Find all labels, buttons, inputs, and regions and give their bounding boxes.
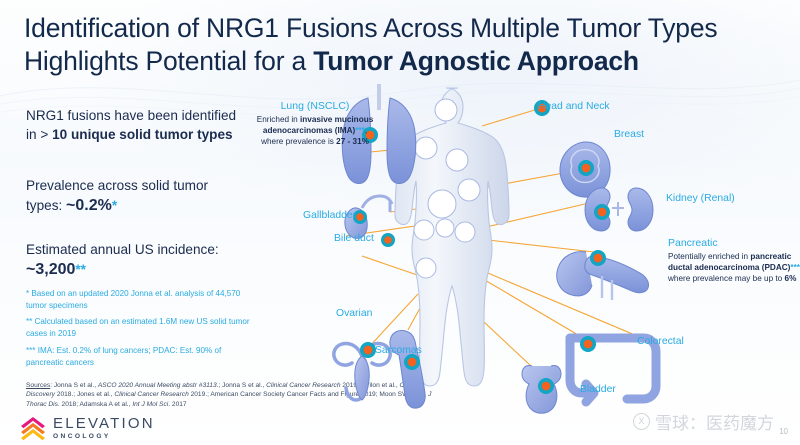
stat3-prefix: Estimated annual US incidence: bbox=[26, 242, 219, 257]
logo-sub-wordmark: ONCOLOGY bbox=[53, 434, 155, 441]
label-colorectal: Colorectal bbox=[637, 336, 684, 347]
panc-b3: *** bbox=[790, 263, 800, 272]
elevation-chevron-icon bbox=[20, 415, 46, 441]
callout-pancreatic: Pancreatic Potentially enriched in pancr… bbox=[668, 237, 800, 285]
sources-t9: . 2017 bbox=[168, 401, 186, 408]
footnote-1: * Based on an updated 2020 Jonna et al. … bbox=[26, 288, 252, 312]
footnote-2: ** Calculated based on an estimated 1.6M… bbox=[26, 316, 252, 340]
label-bladder: Bladder bbox=[580, 384, 616, 395]
anatomy-figure: Lung (NSCLC) Enriched in invasive mucino… bbox=[250, 80, 800, 410]
sources-t5: 2018.; Jones et al., bbox=[55, 391, 114, 398]
watermark-text: 雪球：医药魔方 bbox=[655, 409, 774, 434]
panc-b1: Potentially enriched in bbox=[668, 252, 750, 261]
lung-b1: Enriched in bbox=[257, 115, 300, 124]
label-bile-duct: Bile duct bbox=[334, 233, 374, 244]
slide-title: Identification of NRG1 Fusions Across Mu… bbox=[24, 12, 724, 78]
sources-i1: ASCO 2020 Annual Meeting abstr #3113 bbox=[98, 382, 217, 389]
lung-b5: 27 - 31% bbox=[336, 137, 369, 146]
sources-label: Sources bbox=[26, 382, 50, 389]
sources-i4: Clinical Cancer Research bbox=[114, 391, 188, 398]
elevation-oncology-logo: ELEVATION ONCOLOGY bbox=[20, 415, 155, 441]
watermark-logo-icon: X bbox=[633, 413, 650, 430]
label-breast: Breast bbox=[614, 129, 644, 140]
footnote-3: *** IMA: Est. 0.2% of lung cancers; PDAC… bbox=[26, 345, 252, 369]
callout-pancreatic-body: Potentially enriched in pancreatic ducta… bbox=[668, 252, 800, 285]
sources-i6: Int J Mol Sci bbox=[132, 401, 168, 408]
sources-t8: . 2018; Adamska A et al., bbox=[58, 401, 132, 408]
watermark: X 雪球：医药魔方 bbox=[633, 409, 774, 434]
title-bold: Tumor Agnostic Approach bbox=[313, 46, 639, 76]
panc-b4: where prevalence may be up to bbox=[668, 274, 785, 283]
sources-t1: : Jonna S et al., bbox=[50, 382, 98, 389]
stat2-footnote-marker: * bbox=[112, 198, 117, 213]
logo-wordmark: ELEVATION bbox=[53, 416, 155, 431]
label-gallbladder: Gallbladder bbox=[303, 210, 356, 221]
callout-lung-title: Lung (NSCLC) bbox=[252, 100, 378, 112]
panc-b5: 6% bbox=[785, 274, 797, 283]
stat-unique-tumor-types: NRG1 fusions have been identified in > 1… bbox=[26, 106, 241, 145]
stat3-footnote-marker: ** bbox=[75, 262, 86, 277]
footnotes-block: * Based on an updated 2020 Jonna et al. … bbox=[26, 288, 252, 373]
label-kidney: Kidney (Renal) bbox=[666, 193, 735, 204]
slide-canvas: Identification of NRG1 Fusions Across Mu… bbox=[0, 0, 800, 445]
stat2-value: ~0.2% bbox=[66, 197, 112, 214]
callout-lung: Lung (NSCLC) Enriched in invasive mucino… bbox=[252, 100, 378, 148]
stat-annual-incidence: Estimated annual US incidence: ~3,200** bbox=[26, 240, 241, 282]
label-head-and-neck: Head and Neck bbox=[538, 101, 610, 112]
stat3-value: ~3,200 bbox=[26, 261, 75, 278]
page-number: 10 bbox=[779, 427, 788, 436]
callout-lung-body: Enriched in invasive mucinous adenocarci… bbox=[252, 115, 378, 148]
stat-prevalence: Prevalence across solid tumor types: ~0.… bbox=[26, 176, 241, 218]
lung-b3: *** bbox=[355, 126, 365, 135]
stat1-value: 10 unique solid tumor types bbox=[52, 127, 233, 142]
label-sarcomas: Sarcomas bbox=[375, 345, 422, 356]
label-ovarian: Ovarian bbox=[336, 308, 372, 319]
callout-pancreatic-title: Pancreatic bbox=[668, 237, 800, 249]
